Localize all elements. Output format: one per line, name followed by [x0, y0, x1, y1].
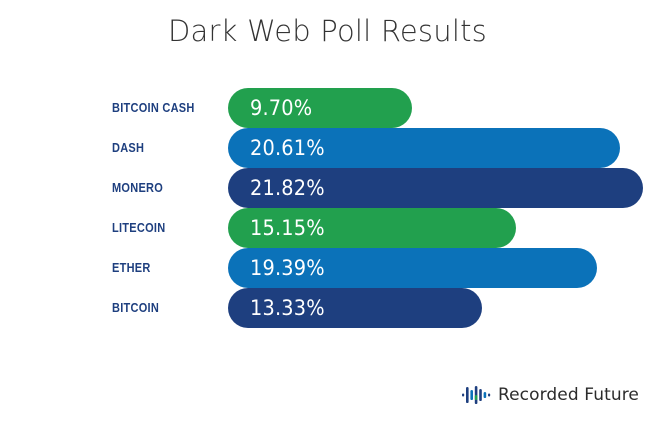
audio-bars-icon	[462, 386, 492, 404]
bar-value-label: 9.70%	[250, 96, 312, 120]
bar-track: 21.82%	[228, 168, 655, 208]
bar-value-label: 19.39%	[250, 256, 325, 280]
bar-category-label: BITCOIN	[112, 288, 244, 328]
bar-track: 19.39%	[228, 248, 655, 288]
bar-category-label: DASH	[112, 128, 244, 168]
bar-chart: BITCOIN CASH9.70%DASH20.61%MONERO21.82%L…	[0, 88, 655, 344]
bar-category-label: BITCOIN CASH	[112, 88, 244, 128]
bar-track: 13.33%	[228, 288, 655, 328]
bar-value-label: 21.82%	[250, 176, 325, 200]
brand-name: Recorded Future	[498, 385, 639, 405]
brand-logo: Recorded Future	[462, 385, 639, 405]
bar-value-label: 20.61%	[250, 136, 325, 160]
bar-category-label: MONERO	[112, 168, 244, 208]
bar-value-label: 15.15%	[250, 216, 325, 240]
bar-bitcoin-cash[interactable]: 9.70%	[228, 88, 412, 128]
bar-bitcoin[interactable]: 13.33%	[228, 288, 482, 328]
chart-poster: Dark Web Poll Results BITCOIN CASH9.70%D…	[0, 0, 655, 427]
bar-row: DASH20.61%	[0, 128, 655, 168]
bar-dash[interactable]: 20.61%	[228, 128, 620, 168]
bar-track: 9.70%	[228, 88, 655, 128]
bar-value-label: 13.33%	[250, 296, 325, 320]
bar-ether[interactable]: 19.39%	[228, 248, 597, 288]
bar-row: MONERO21.82%	[0, 168, 655, 208]
bar-row: BITCOIN13.33%	[0, 288, 655, 328]
bar-litecoin[interactable]: 15.15%	[228, 208, 516, 248]
page-title: Dark Web Poll Results	[0, 14, 655, 48]
bar-row: BITCOIN CASH9.70%	[0, 88, 655, 128]
bar-row: LITECOIN15.15%	[0, 208, 655, 248]
bar-monero[interactable]: 21.82%	[228, 168, 643, 208]
bar-row: ETHER19.39%	[0, 248, 655, 288]
bar-category-label: LITECOIN	[112, 208, 244, 248]
bar-track: 20.61%	[228, 128, 655, 168]
bar-category-label: ETHER	[112, 248, 244, 288]
bar-track: 15.15%	[228, 208, 655, 248]
